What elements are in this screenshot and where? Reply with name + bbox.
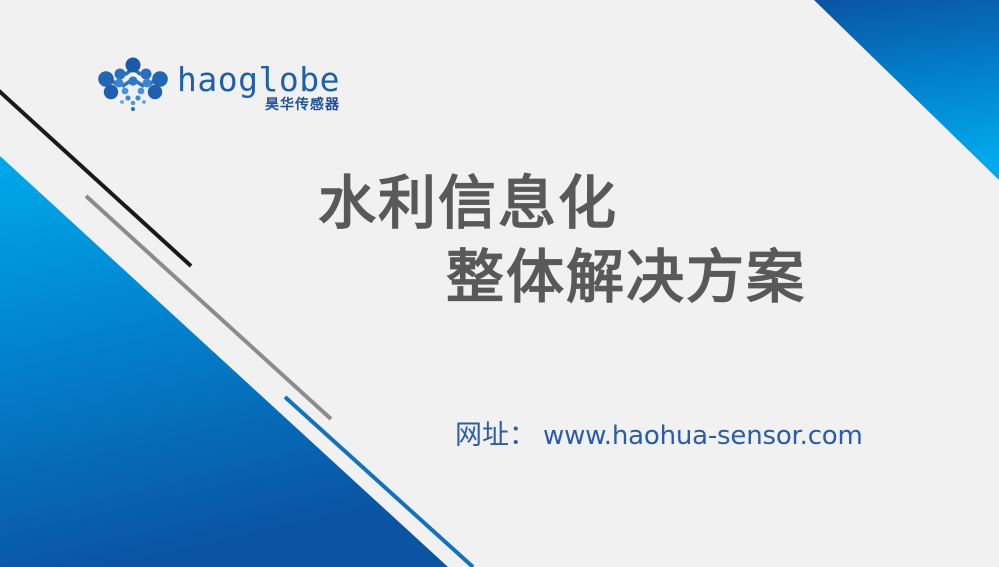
website-url[interactable]: www.haohua-sensor.com: [543, 419, 863, 453]
logo-text-group: haoglobe 昊华传感器: [177, 57, 340, 114]
top-right-blue-triangle: [814, 0, 999, 180]
title-slide: haoglobe 昊华传感器 水利信息化 整体解决方案 网址： www.haoh…: [0, 0, 999, 567]
company-logo[interactable]: haoglobe 昊华传感器: [97, 57, 340, 114]
gray-diagonal-line: [86, 196, 331, 419]
black-diagonal-line: [0, 90, 191, 266]
network-nodes-logo-icon: [97, 57, 169, 113]
slide-title: 水利信息化 整体解决方案: [318, 166, 938, 314]
slide-title-line-2: 整体解决方案: [318, 240, 938, 314]
website-line: 网址： www.haohua-sensor.com: [455, 419, 863, 453]
website-label: 网址：: [455, 419, 536, 453]
blue-diagonal-line: [285, 397, 473, 567]
logo-wordmark: haoglobe: [177, 63, 340, 96]
slide-title-line-1: 水利信息化: [318, 166, 938, 240]
logo-subtext: 昊华传感器: [265, 97, 340, 114]
